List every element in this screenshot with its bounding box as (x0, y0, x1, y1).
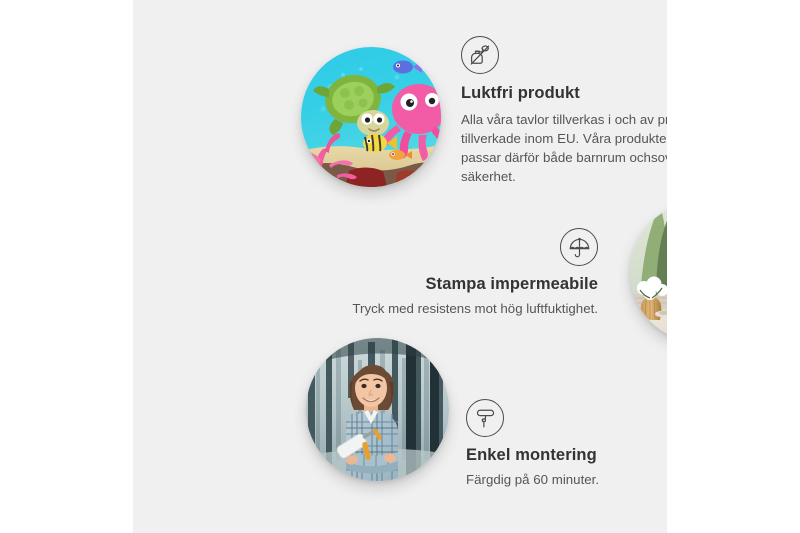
feature-description: Alla våra tavlor tillverkas i och av pro… (461, 110, 667, 186)
feature-description: Tryck med resistens mot hög luftfuktighe… (328, 299, 598, 318)
feature-assembly: Enkel montering Färgdig på 60 minuter. (466, 399, 667, 489)
paint-roller-icon (466, 399, 504, 437)
no-odour-spray-bottle-icon (461, 36, 499, 74)
feature-title: Enkel montering (466, 445, 667, 466)
feature-waterproof: Stampa impermeabile Tryck med resistens … (328, 228, 598, 318)
screenshot-root: Luktfri produkt Alla våra tavlor tillver… (0, 0, 800, 533)
feature-description: Färgdig på 60 minuter. (466, 470, 667, 489)
umbrella-icon (560, 228, 598, 266)
photo-bathroom (630, 202, 667, 342)
feature-title: Stampa impermeabile (328, 274, 598, 295)
photo-painter (306, 338, 449, 481)
feature-panel: Luktfri produkt Alla våra tavlor tillver… (133, 0, 667, 533)
feature-odourless: Luktfri produkt Alla våra tavlor tillver… (461, 36, 667, 186)
feature-title: Luktfri produkt (461, 83, 667, 104)
photo-aquarium (301, 47, 441, 187)
